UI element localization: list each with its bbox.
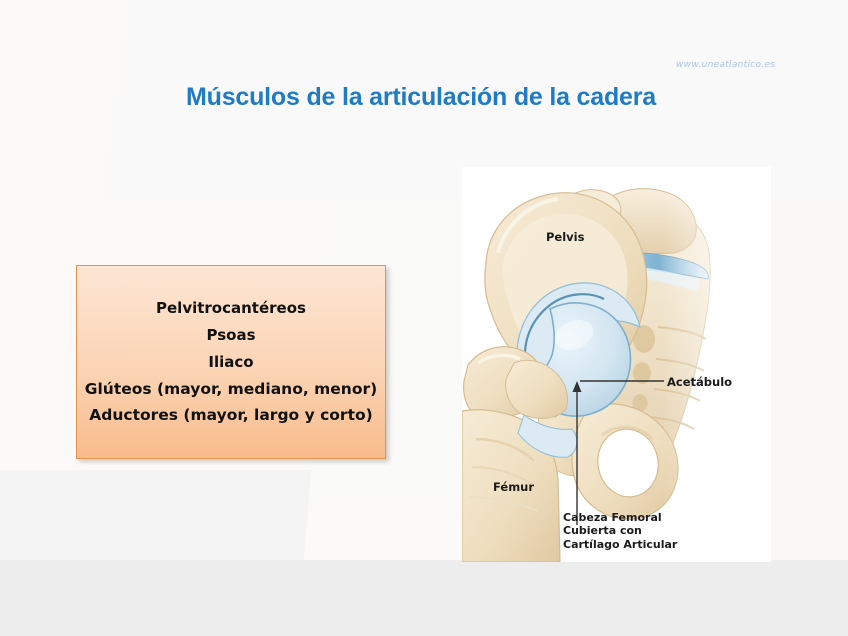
- figure-label-cabeza-femoral: Cabeza Femoral Cubierta con Cartílago Ar…: [563, 511, 677, 551]
- figure-label-femur: Fémur: [493, 480, 534, 494]
- background-panel-bottom-strip: [0, 560, 848, 636]
- figure-label-pelvis: Pelvis: [546, 230, 584, 244]
- list-item: Aductores (mayor, largo y corto): [89, 407, 372, 423]
- figure-label-cabeza-line3: Cartílago Articular: [563, 538, 677, 551]
- list-item: Psoas: [206, 328, 255, 344]
- list-item: Pelvitrocantéreos: [156, 301, 306, 317]
- femur-group: [462, 347, 577, 562]
- page-title: Músculos de la articulación de la cadera: [186, 83, 656, 112]
- figure-label-cabeza-line2: Cubierta con: [563, 524, 677, 537]
- list-item: Glúteos (mayor, mediano, menor): [85, 381, 377, 397]
- muscle-list-box: Pelvitrocantéreos Psoas Iliaco Glúteos (…: [76, 265, 386, 459]
- watermark-text: www.uneatlantico.es: [676, 60, 775, 70]
- hip-anatomy-figure: Pelvis Acetábulo Fémur Cabeza Femoral Cu…: [462, 167, 771, 562]
- hip-joint-illustration-svg: [462, 167, 771, 562]
- figure-label-cabeza-line1: Cabeza Femoral: [563, 511, 677, 524]
- list-item: Iliaco: [208, 355, 253, 371]
- slide-canvas: www.uneatlantico.es Músculos de la artic…: [0, 0, 848, 636]
- figure-label-acetabulo: Acetábulo: [667, 375, 732, 389]
